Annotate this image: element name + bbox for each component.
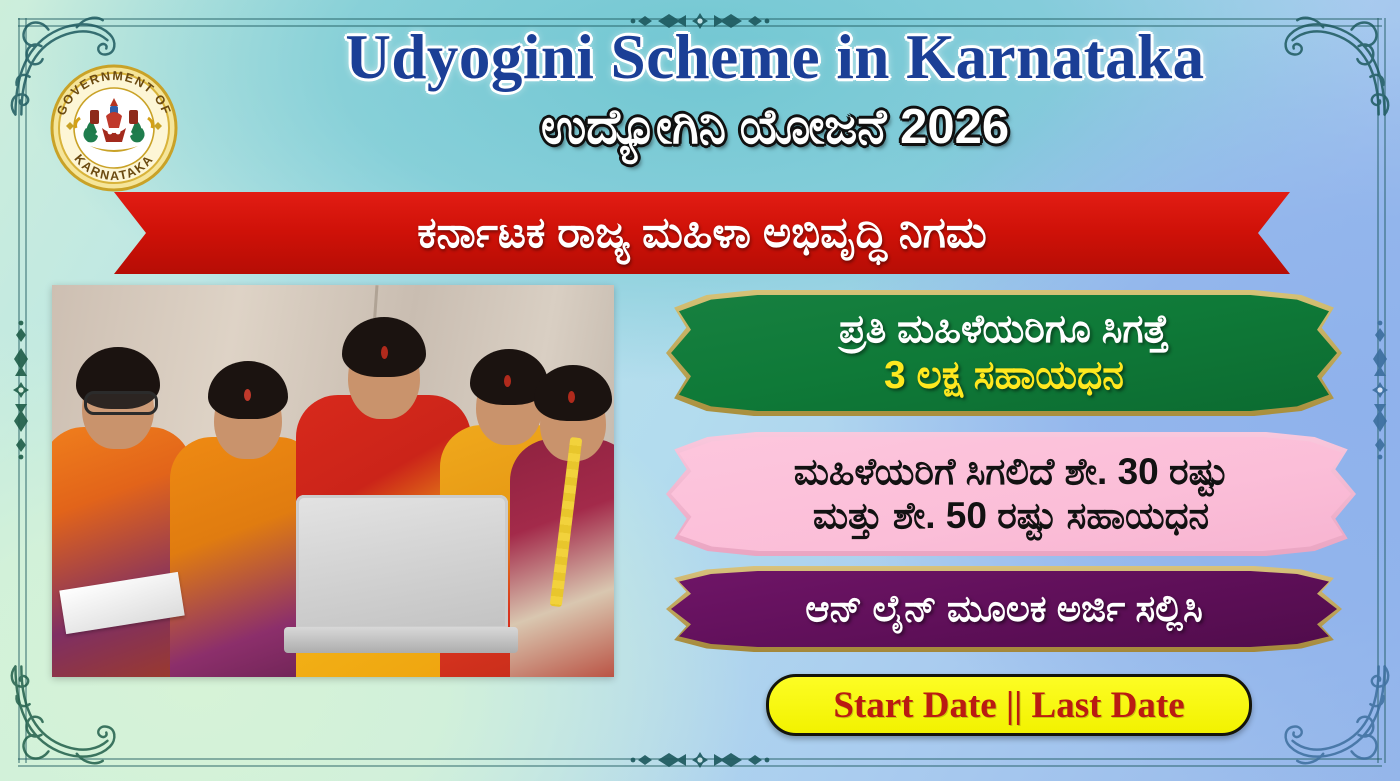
page-title-kannada: ಉದ್ಯೋಗಿನಿ ಯೋಜನೆ 2026: [190, 95, 1360, 159]
edge-motif-right: [1370, 320, 1390, 460]
edge-motif-bottom: [630, 750, 770, 770]
organisation-ribbon-label: ಕರ್ನಾಟಕ ರಾಜ್ಯ ಮಹಿಳಾ ಅಭಿವೃದ್ಧಿ ನಿಗಮ: [417, 212, 987, 255]
women-entrepreneurs-photo: [52, 285, 614, 677]
info-box-apply-online: ಆನ್ ಲೈನ್ ಮೂಲಕ ಅರ್ಜಿ ಸಲ್ಲಿಸಿ: [666, 566, 1342, 652]
frame-line-right: [1377, 18, 1386, 763]
corner-scroll-ornament-bottom-right: [1276, 657, 1394, 775]
photo-woman-2-bindi: [244, 389, 251, 401]
photo-laptop-base: [284, 627, 518, 653]
info-box-subsidy-percentage: ಮಹಿಳೆಯರಿಗೆ ಸಿಗಲಿದೆ ಶೇ. 30 ರಷ್ಟು ಮತ್ತು ಶೇ…: [666, 432, 1356, 556]
frame-line-bottom: [18, 758, 1382, 767]
photo-woman-1-glasses: [84, 391, 158, 415]
start-last-date-button[interactable]: Start Date || Last Date: [766, 674, 1252, 736]
start-last-date-label: Start Date || Last Date: [833, 687, 1184, 724]
government-of-karnataka-emblem: GOVERNMENT OF KARNATAKA: [40, 58, 188, 198]
info-box-subsidy-percentage-line1: ಮಹಿಳೆಯರಿಗೆ ಸಿಗಲಿದೆ ಶೇ. 30 ರಷ್ಟು: [666, 450, 1356, 494]
info-box-subsidy-percentage-line2: ಮತ್ತು ಶೇ. 50 ರಷ್ಟು ಸಹಾಯಧನ: [666, 494, 1356, 538]
info-box-subsidy-amount-line2: 3 ಲಕ್ಷ ಸಹಾಯಧನ: [666, 353, 1342, 399]
edge-motif-left: [11, 320, 31, 460]
page-title-english: Udyogini Scheme in Karnataka: [190, 22, 1360, 92]
photo-laptop-screen: [296, 495, 508, 629]
info-box-subsidy-amount-line1: ಪ್ರತಿ ಮಹಿಳೆಯರಿಗೂ ಸಿಗತ್ತೆ: [666, 307, 1342, 353]
poster-canvas: GOVERNMENT OF KARNATAKA Udyogini Scheme …: [0, 0, 1400, 781]
info-box-subsidy-amount: ಪ್ರತಿ ಮಹಿಳೆಯರಿಗೂ ಸಿಗತ್ತೆ 3 ಲಕ್ಷ ಸಹಾಯಧನ: [666, 290, 1342, 416]
photo-woman-5-bindi: [568, 391, 575, 403]
photo-woman-3-bindi: [381, 346, 388, 359]
organisation-ribbon-banner: ಕರ್ನಾಟಕ ರಾಜ್ಯ ಮಹಿಳಾ ಅಭಿವೃದ್ಧಿ ನಿಗಮ: [114, 192, 1290, 274]
frame-line-left: [18, 18, 27, 763]
info-box-apply-online-line1: ಆನ್ ಲೈನ್ ಮೂಲಕ ಅರ್ಜಿ ಸಲ್ಲಿಸಿ: [666, 587, 1342, 631]
